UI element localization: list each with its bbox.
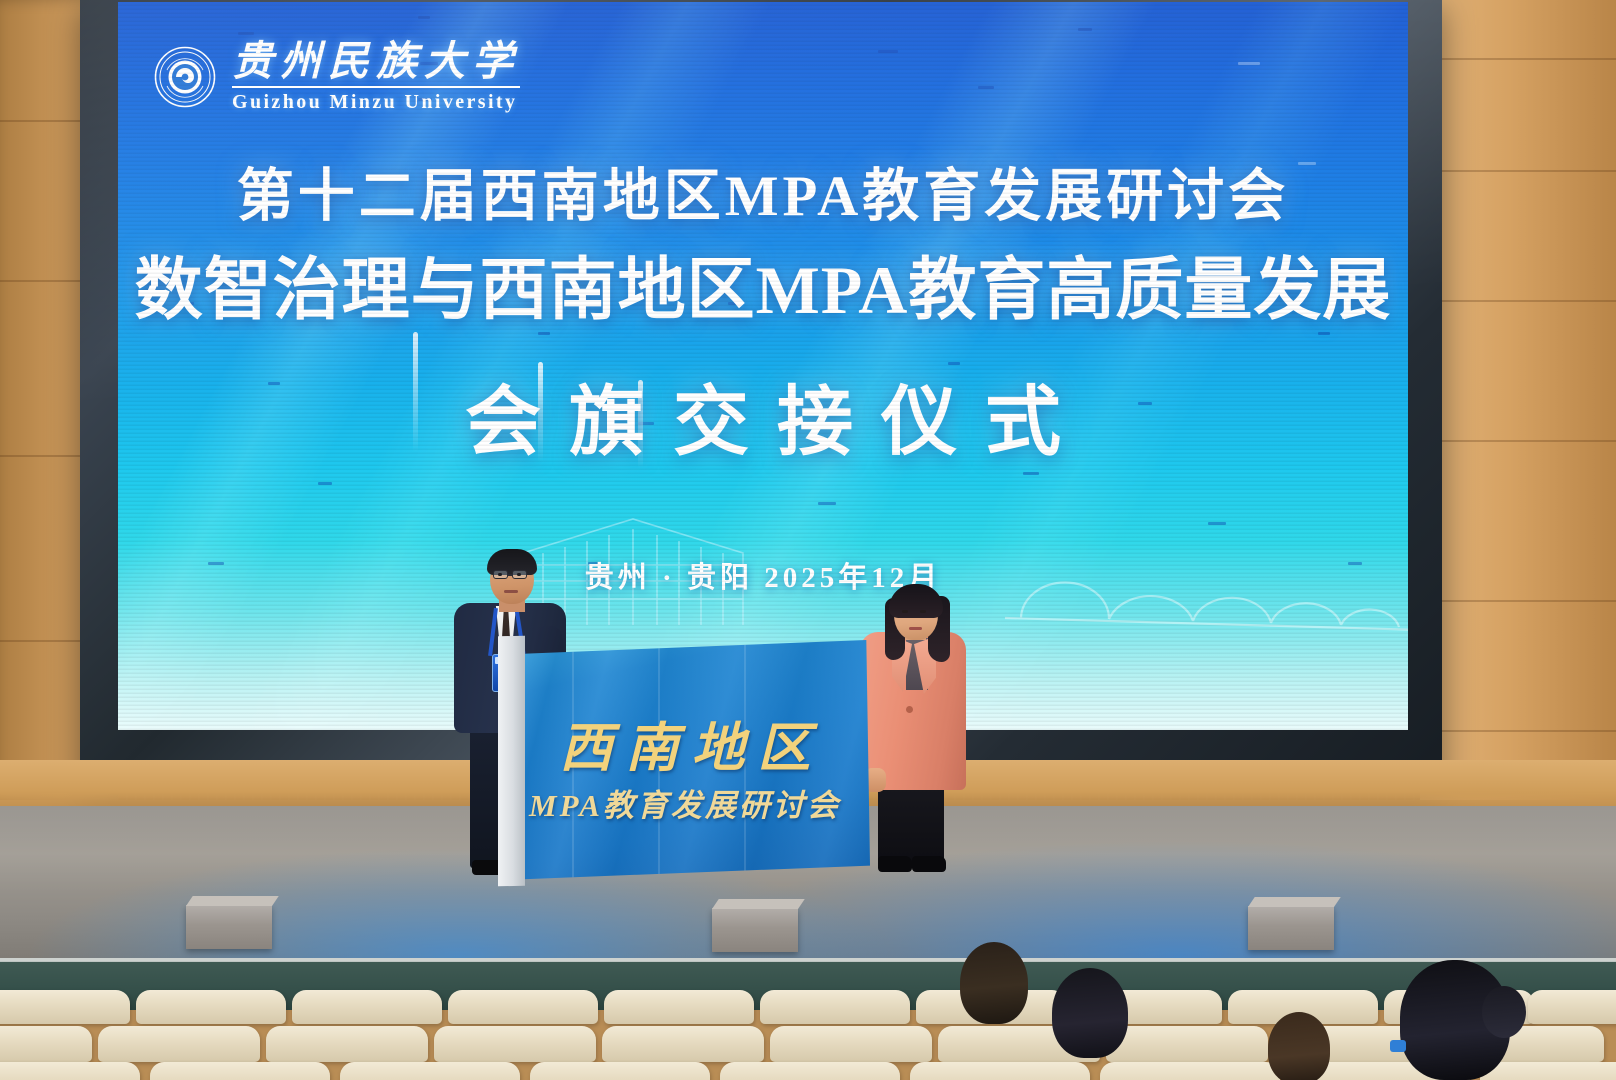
eyeglasses-bridge (508, 574, 513, 576)
seat (602, 1026, 764, 1062)
seat (448, 990, 598, 1024)
conference-flag: 西南地区 MPA教育发展研讨会 (500, 640, 870, 880)
wall-seam (1420, 170, 1616, 172)
led-screen: 贵州民族大学 Guizhou Minzu University 第十二届西南地区… (118, 2, 1408, 730)
mouth (909, 627, 922, 630)
audience-head (1268, 1012, 1330, 1080)
audience-head (960, 942, 1028, 1024)
seat (0, 1026, 92, 1062)
seat (720, 1062, 900, 1080)
seat (340, 1062, 520, 1080)
audience-collar-accent (1390, 1040, 1406, 1052)
seat (770, 1026, 932, 1062)
seat (1106, 1026, 1268, 1062)
coat-button (906, 706, 913, 713)
seat (0, 1062, 140, 1080)
seat (760, 990, 910, 1024)
audience-head (1052, 968, 1128, 1058)
stage-riser-block (1248, 906, 1334, 950)
flag-hem-sleeve (498, 636, 525, 887)
seat (0, 990, 130, 1024)
wall-right-panel (1420, 0, 1616, 800)
seat (150, 1062, 330, 1080)
audience-seating (0, 986, 1616, 1080)
led-scanline-overlay (118, 2, 1408, 730)
seat (292, 990, 442, 1024)
seat (1528, 990, 1616, 1024)
wall-seam (1420, 300, 1616, 302)
wall-seam (1420, 440, 1616, 442)
mouth (504, 590, 518, 593)
wall-seam (1420, 58, 1616, 60)
boot-left (878, 856, 912, 872)
eye-right (920, 610, 926, 613)
receiver-right-person (856, 588, 976, 880)
seat (1100, 1062, 1280, 1080)
seat (266, 1026, 428, 1062)
conference-photo-scene: 贵州民族大学 Guizhou Minzu University 第十二届西南地区… (0, 0, 1616, 1080)
eye-left (902, 610, 908, 613)
seat (530, 1062, 710, 1080)
boot-right (912, 856, 946, 872)
wall-seam (1420, 730, 1616, 732)
flag-text-line1: 西南地区 (500, 706, 870, 782)
seat (910, 1062, 1090, 1080)
wall-seam (1420, 600, 1616, 602)
seat (136, 990, 286, 1024)
seat (434, 1026, 596, 1062)
audience-hair-bun (1482, 986, 1526, 1038)
seat (98, 1026, 260, 1062)
seat (1480, 1062, 1616, 1080)
eye-left (498, 573, 502, 576)
hair-top (889, 584, 943, 618)
flag-text-line2: MPA教育发展研讨会 (500, 780, 870, 825)
stage-riser-block (712, 908, 798, 952)
seat (604, 990, 754, 1024)
eye-right (517, 573, 521, 576)
stage-riser-block (186, 905, 272, 949)
